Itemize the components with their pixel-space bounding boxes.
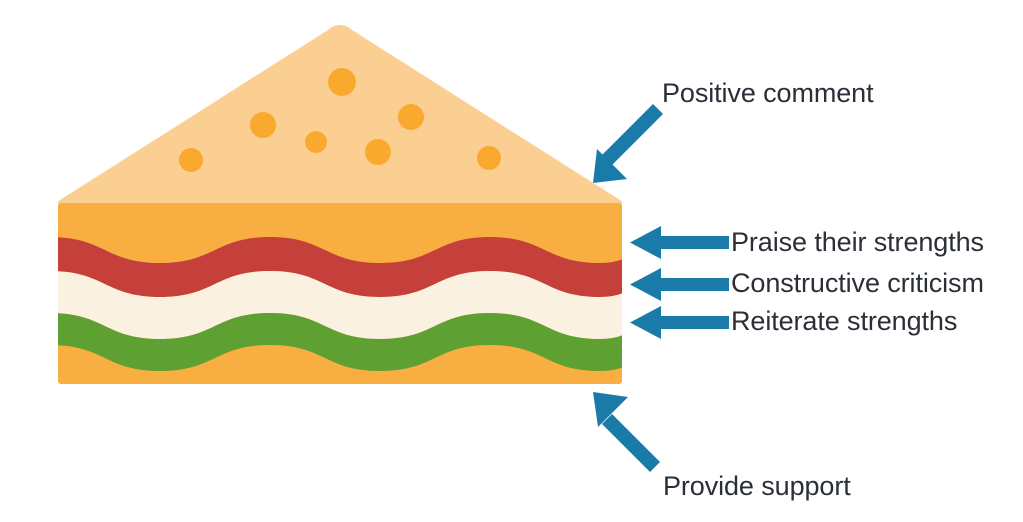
- seed-dot: [398, 104, 424, 130]
- arrow-praise-their-strengths: [630, 226, 729, 259]
- seed-dot: [365, 139, 391, 165]
- seed-dot: [305, 131, 327, 153]
- seed-dot: [250, 112, 276, 138]
- arrow-positive-comment: [593, 104, 663, 183]
- seed-dot: [179, 148, 203, 172]
- arrow-reiterate-strengths: [630, 306, 729, 339]
- arrow-provide-support: [593, 392, 660, 472]
- seed-dot: [477, 146, 501, 170]
- sandwich-body: [50, 203, 636, 384]
- callout-label-positive-comment: Positive comment: [662, 80, 873, 107]
- top-bread-triangle: [58, 25, 622, 205]
- callout-label-reiterate-strengths: Reiterate strengths: [731, 308, 957, 335]
- callout-label-constructive-criticism: Constructive criticism: [731, 270, 984, 297]
- diagram-canvas: Positive comment Praise their strengths …: [0, 0, 1023, 522]
- callout-label-provide-support: Provide support: [663, 473, 851, 500]
- arrow-constructive-criticism: [630, 268, 729, 301]
- callout-label-praise-their-strengths: Praise their strengths: [731, 229, 984, 256]
- seed-dot: [328, 68, 356, 96]
